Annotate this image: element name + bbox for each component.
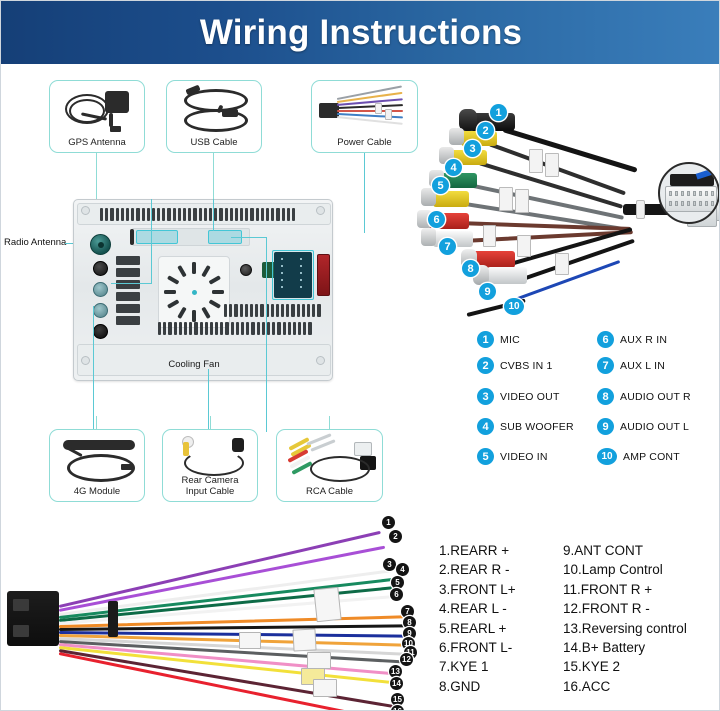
pin-row-5: 5.REARL + <box>439 619 516 638</box>
legend-marker-1: 1 <box>477 331 494 348</box>
av-jack-2 <box>93 282 108 297</box>
leader-power-connector <box>364 153 365 233</box>
accessory-label-rear-camera-l2: Input Cable <box>163 486 257 497</box>
legend-label-8: AUDIO OUT R <box>620 391 691 403</box>
accessory-label-rca-cable: RCA Cable <box>277 486 382 497</box>
iso-wire-harness-photo: 1 2 3 4 5 6 7 8 9 10 11 12 13 14 15 16 <box>1 513 421 711</box>
rear-camera-input-cable-image <box>166 434 254 469</box>
pin-row-8: 8.GND <box>439 677 516 696</box>
av-jack-3 <box>93 303 108 318</box>
wiring-instructions-page: Wiring Instructions GPS Antenna USB Cabl… <box>0 0 720 711</box>
legend-label-1: MIC <box>500 334 520 346</box>
top-vent-grill <box>100 208 310 221</box>
legend-label-5: VIDEO IN <box>500 451 548 463</box>
legend-item-8: 8 AUDIO OUT R <box>597 388 691 405</box>
harness-marker-4: 4 <box>396 563 409 576</box>
pin-row-7: 7.KYE 1 <box>439 657 516 676</box>
legend-marker-3: 3 <box>477 388 494 405</box>
accessory-label-usb-cable: USB Cable <box>167 137 261 148</box>
pin-row-4: 4.REAR L - <box>439 599 516 618</box>
rca-cable-image <box>280 434 379 479</box>
radio-antenna-jack <box>90 234 111 255</box>
accessory-card-usb-cable: USB Cable <box>166 80 262 153</box>
battery-cell <box>240 264 252 276</box>
legend-marker-2: 2 <box>477 357 494 374</box>
leader-rca-cable <box>329 416 330 429</box>
legend-marker-7: 7 <box>597 357 614 374</box>
legend-marker-8: 8 <box>597 388 614 405</box>
legend-label-4: SUB WOOFER <box>500 421 574 433</box>
rca-photo-marker-6: 6 <box>428 211 445 228</box>
harness-label-tag-3 <box>239 632 261 649</box>
accessory-label-gps-antenna: GPS Antenna <box>50 137 144 148</box>
harness-marker-6: 6 <box>390 588 403 601</box>
rca-photo-marker-9: 9 <box>479 283 496 300</box>
pin-row-10: 10.Lamp Control <box>563 560 687 579</box>
page-title: Wiring Instructions <box>1 1 720 64</box>
harness-plug-connector <box>7 591 59 646</box>
legend-label-2: CVBS IN 1 <box>500 360 553 372</box>
harness-marker-14: 14 <box>390 677 403 690</box>
pin-row-16: 16.ACC <box>563 677 687 696</box>
harness-marker-5: 5 <box>391 576 404 589</box>
power-switch[interactable] <box>317 254 330 296</box>
pin-list-column-left: 1.REARR + 2.REAR R - 3.FRONT L+ 4.REAR L… <box>439 541 516 696</box>
radio-antenna-label: Radio Antenna <box>4 237 66 248</box>
pin-row-3: 3.FRONT L+ <box>439 580 516 599</box>
connector-magnifier-callout <box>658 162 720 224</box>
leader-gps-jack-v <box>151 199 152 283</box>
legend-item-1: 1 MIC <box>477 331 520 348</box>
accessory-label-power-cable: Power Cable <box>312 137 417 148</box>
accessory-card-rca-cable: RCA Cable <box>276 429 383 502</box>
iso-connector-block <box>274 252 312 298</box>
harness-cable-tie <box>108 601 118 637</box>
legend-item-4: 4 SUB WOOFER <box>477 418 574 435</box>
pin-row-6: 6.FRONT L- <box>439 638 516 657</box>
4g-module-image <box>53 434 141 479</box>
pin-row-2: 2.REAR R - <box>439 560 516 579</box>
legend-marker-6: 6 <box>597 331 614 348</box>
legend-marker-4: 4 <box>477 418 494 435</box>
harness-label-tag-4 <box>307 652 331 669</box>
legend-item-5: 5 VIDEO IN <box>477 448 548 465</box>
legend-item-3: 3 VIDEO OUT <box>477 388 560 405</box>
rca-connector-legend: 1 MIC 2 CVBS IN 1 3 VIDEO OUT 4 SUB WOOF… <box>477 331 717 479</box>
legend-marker-10: 10 <box>597 448 617 465</box>
pin-row-14: 14.B+ Battery <box>563 638 687 657</box>
rca-photo-marker-2: 2 <box>477 122 494 139</box>
legend-item-9: 9 AUDIO OUT L <box>597 418 689 435</box>
leader-4g-module <box>96 416 97 429</box>
rca-photo-marker-10: 10 <box>504 298 524 315</box>
legend-label-3: VIDEO OUT <box>500 391 560 403</box>
leader-usb-cable <box>213 153 214 199</box>
leader-gps-antenna <box>96 153 97 199</box>
accessory-card-gps-antenna: GPS Antenna <box>49 80 145 153</box>
rca-photo-marker-5: 5 <box>432 177 449 194</box>
legend-item-6: 6 AUX R IN <box>597 331 667 348</box>
leader-rear-camera <box>210 416 211 429</box>
leader-rca-h <box>231 237 267 238</box>
harness-wire-16 <box>59 652 391 711</box>
cooling-fan <box>158 256 230 328</box>
av-jack-4 <box>93 324 108 339</box>
accessory-card-rear-camera-input-cable: Rear Camera Input Cable <box>162 429 258 502</box>
harness-label-tag-1 <box>313 587 341 622</box>
accessory-label-4g-module: 4G Module <box>50 486 144 497</box>
legend-label-10: AMP CONT <box>623 451 680 463</box>
pin-list-column-right: 9.ANT CONT 10.Lamp Control 11.FRONT R + … <box>563 541 687 696</box>
harness-marker-3: 3 <box>383 558 396 571</box>
pin-row-12: 12.FRONT R - <box>563 599 687 618</box>
power-cable-image <box>315 85 414 130</box>
accessory-card-4g-module: 4G Module <box>49 429 145 502</box>
leader-gps-jack-h <box>111 283 152 284</box>
accessory-card-power-cable: Power Cable <box>311 80 418 153</box>
harness-marker-1: 1 <box>382 516 395 529</box>
legend-label-9: AUDIO OUT L <box>620 421 689 433</box>
legend-item-2: 2 CVBS IN 1 <box>477 357 553 374</box>
pin-row-13: 13.Reversing control <box>563 619 687 638</box>
legend-item-7: 7 AUX L IN <box>597 357 665 374</box>
harness-marker-2: 2 <box>389 530 402 543</box>
legend-label-7: AUX L IN <box>620 360 665 372</box>
fan-hub-marker <box>192 290 197 295</box>
rca-photo-marker-1: 1 <box>490 104 507 121</box>
pin-row-11: 11.FRONT R + <box>563 580 687 599</box>
connector-highlight-left <box>136 230 178 244</box>
rca-photo-marker-3: 3 <box>464 140 481 157</box>
legend-label-6: AUX R IN <box>620 334 667 346</box>
gps-antenna-image <box>53 85 141 130</box>
pin-row-9: 9.ANT CONT <box>563 541 687 560</box>
rca-photo-marker-8: 8 <box>462 260 479 277</box>
rca-photo-marker-7: 7 <box>439 238 456 255</box>
rca-photo-marker-4: 4 <box>445 159 462 176</box>
accessory-label-rear-camera-l1: Rear Camera <box>163 475 257 486</box>
leader-fan-v <box>208 369 209 432</box>
cooling-fan-label: Cooling Fan <box>134 359 254 370</box>
harness-marker-12: 12 <box>400 653 413 666</box>
leader-4g-jack-v <box>93 306 94 432</box>
av-jack-1 <box>93 261 108 276</box>
harness-label-tag-2 <box>292 628 316 651</box>
legend-marker-5: 5 <box>477 448 494 465</box>
legend-item-10: 10 AMP CONT <box>597 448 680 465</box>
pin-row-15: 15.KYE 2 <box>563 657 687 676</box>
harness-marker-16: 16 <box>391 705 404 711</box>
leader-to-usb-connector <box>213 199 214 231</box>
usb-cable-image <box>170 85 258 130</box>
leader-rca-v <box>266 237 267 432</box>
page-header: Wiring Instructions <box>1 1 720 64</box>
harness-label-tag-6 <box>313 679 337 697</box>
legend-marker-9: 9 <box>597 418 614 435</box>
pin-row-1: 1.REARR + <box>439 541 516 560</box>
harness-pin-list: 1.REARR + 2.REAR R - 3.FRONT L+ 4.REAR L… <box>439 541 720 706</box>
magnifier-white-connector <box>665 186 717 212</box>
head-unit-rear-panel: Cooling Fan <box>73 199 333 381</box>
